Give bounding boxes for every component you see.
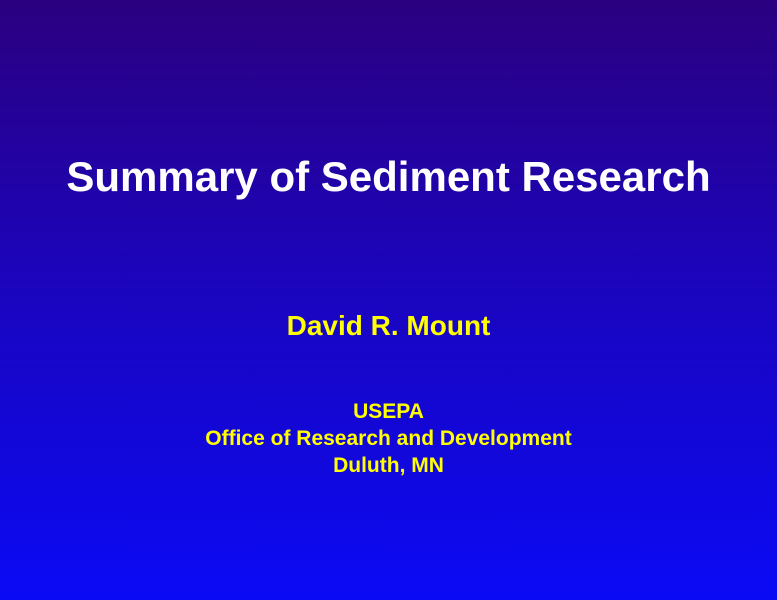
affiliation-organization: USEPA: [0, 398, 777, 425]
affiliation-block: USEPA Office of Research and Development…: [0, 398, 777, 479]
page-title: Summary of Sediment Research: [0, 151, 777, 203]
affiliation-location: Duluth, MN: [0, 452, 777, 479]
affiliation-division: Office of Research and Development: [0, 425, 777, 452]
presentation-slide: Summary of Sediment Research David R. Mo…: [0, 0, 777, 600]
presenter-name: David R. Mount: [0, 308, 777, 344]
